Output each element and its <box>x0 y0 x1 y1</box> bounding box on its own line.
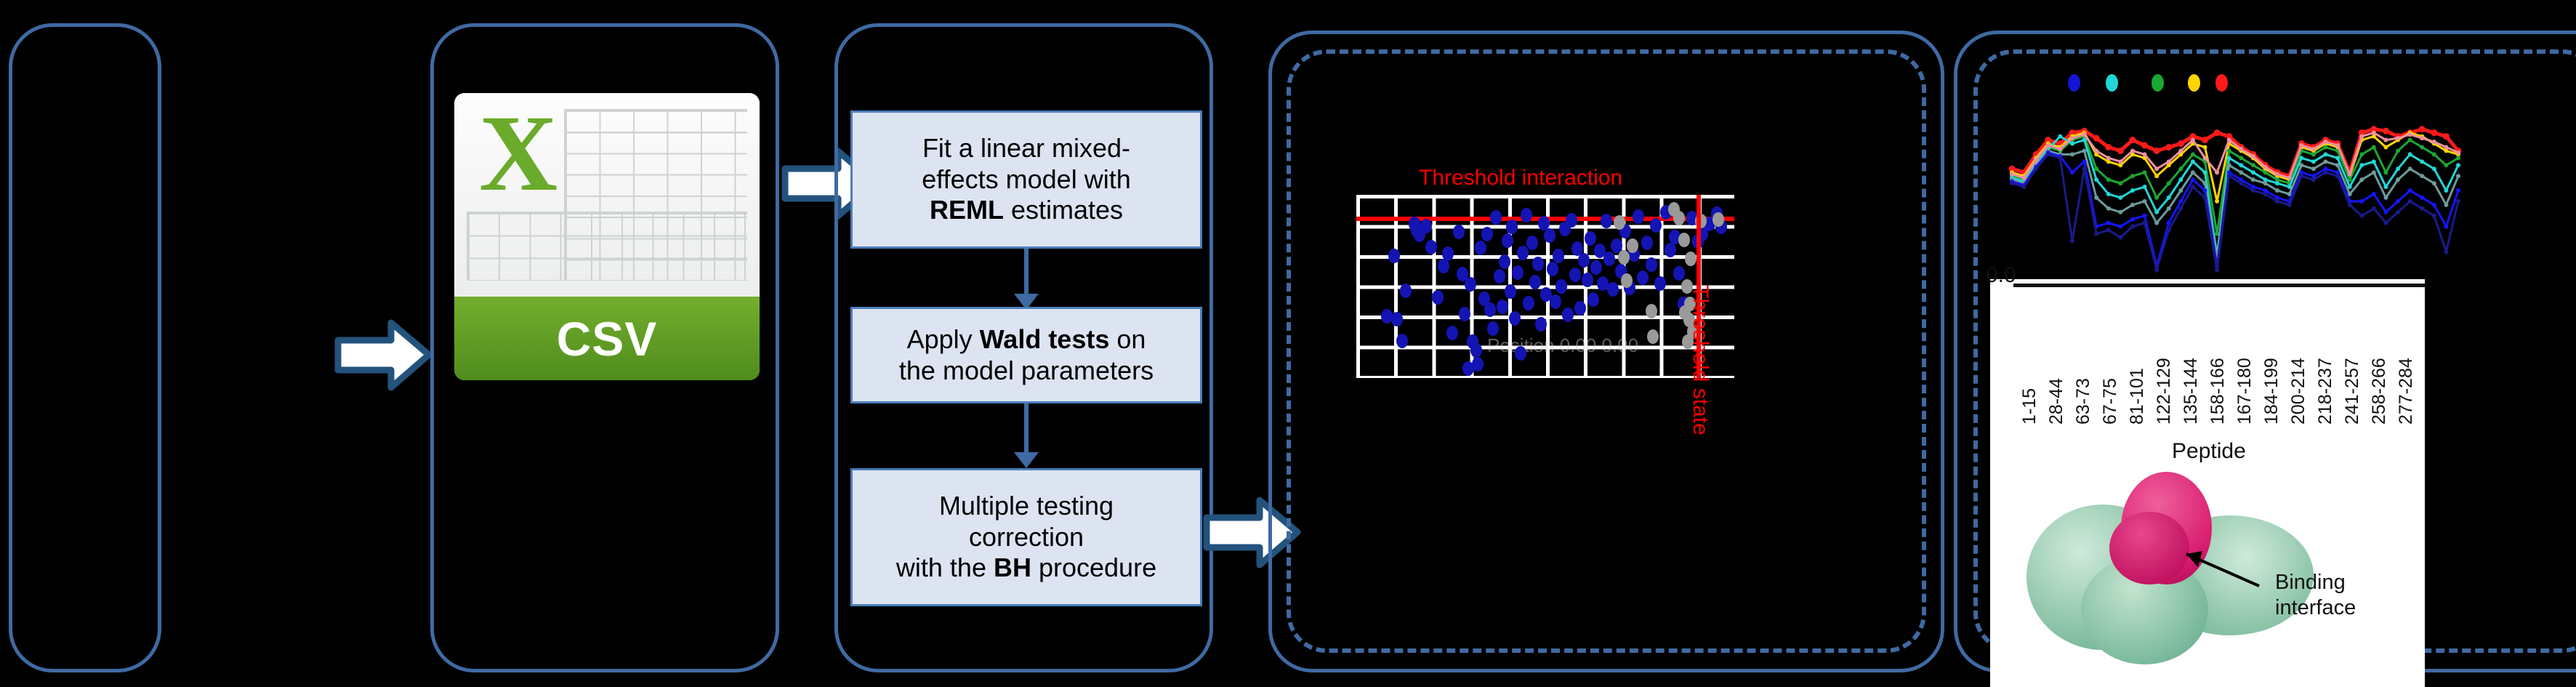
line-series-point <box>2034 158 2038 162</box>
scatter-point <box>1420 219 1432 233</box>
scatter-point <box>1502 233 1513 248</box>
line-series-point <box>2335 174 2340 178</box>
x-tick-label: 200-214 <box>2288 358 2309 425</box>
scatter-point-grey <box>1627 238 1638 253</box>
bh-line-1: Multiple testing <box>896 491 1156 521</box>
scatter-point <box>1515 346 1526 361</box>
scatter-point <box>1529 275 1541 289</box>
line-series-point <box>2239 163 2243 167</box>
line-series-point <box>2106 177 2111 182</box>
line-series-point <box>2372 192 2376 196</box>
process-step-reml[interactable]: Fit a linear mixed- effects model with R… <box>850 111 1202 249</box>
line-series-point <box>2191 177 2195 182</box>
line-series-point <box>2191 138 2195 142</box>
line-series-point <box>2456 188 2460 193</box>
line-series-point <box>2141 142 2148 149</box>
line-series-point <box>2443 133 2450 140</box>
line-series-point <box>2444 225 2448 229</box>
scatter-point-grey <box>1673 211 1685 225</box>
scatter-point <box>1526 236 1538 250</box>
x-tick-label: 167-180 <box>2234 358 2255 425</box>
line-series-point <box>2070 136 2074 140</box>
line-series-point <box>2167 206 2171 211</box>
line-series-point <box>2383 196 2388 200</box>
line-series-point <box>2178 148 2183 153</box>
line-series-point <box>2129 137 2136 143</box>
line-series-point <box>2143 199 2147 204</box>
line-series-point <box>2263 181 2267 185</box>
line-series-point <box>2251 170 2255 174</box>
x-tick-label: 28-44 <box>2046 378 2067 425</box>
scatter-point <box>1453 225 1465 239</box>
scatter-point-grey <box>1647 329 1659 344</box>
line-series-point <box>2130 188 2135 193</box>
scatter-point <box>1555 279 1567 294</box>
scatter-point <box>1425 240 1437 254</box>
line-series-point <box>2408 199 2412 204</box>
line-series-point <box>2167 228 2171 233</box>
line-series-point <box>2275 172 2279 177</box>
line-series-point <box>2419 126 2426 132</box>
line-series-point <box>2432 203 2436 207</box>
line-series-point <box>2311 166 2316 171</box>
scatter-point <box>1566 213 1577 228</box>
scatter-point <box>1517 246 1529 260</box>
scatter-point-grey <box>1678 233 1690 247</box>
line-series-point <box>2396 148 2400 153</box>
line-series-point <box>2046 152 2050 156</box>
line-series-point <box>2094 148 2098 153</box>
line-series-point <box>2239 170 2243 174</box>
scatter-point <box>1673 266 1685 281</box>
line-series-point <box>2202 137 2208 143</box>
reml-line-3-rest: estimates <box>1004 195 1123 225</box>
scatter-plot: Position 0.00 0.00 <box>1356 195 1734 378</box>
line-series-point <box>2432 152 2436 156</box>
line-series-point <box>2348 172 2352 177</box>
line-series-point <box>2431 129 2437 136</box>
line-series-point <box>2130 217 2135 222</box>
scatter-point <box>1487 321 1499 336</box>
line-series-point <box>2058 147 2062 151</box>
scatter-point <box>1637 270 1649 285</box>
line-series-point <box>2396 210 2400 214</box>
bh-line-3: with the BH procedure <box>896 553 1156 583</box>
wald-line-1: Apply Wald tests on <box>899 324 1154 355</box>
scatter-point <box>1578 253 1590 268</box>
line-series-point <box>2106 228 2111 233</box>
scatter-point <box>1470 343 1482 358</box>
scatter-point <box>1494 269 1505 284</box>
scatter-point <box>1499 254 1510 269</box>
scatter-point <box>1550 294 1561 309</box>
line-series-point <box>2191 159 2195 164</box>
line-series-point <box>2408 152 2412 156</box>
line-series-point <box>2106 192 2111 196</box>
line-series-point <box>2010 172 2014 177</box>
line-series-point <box>2227 138 2231 142</box>
scatter-point <box>1505 284 1516 299</box>
scatter-point <box>1532 257 1544 271</box>
x-tick-label: 158-166 <box>2207 358 2229 425</box>
scatter-point <box>1465 277 1476 292</box>
line-series-point <box>2105 144 2112 150</box>
line-series-point <box>2082 132 2087 137</box>
x-tick-label: 277-284 <box>2396 358 2417 425</box>
y-axis-label: 0.0 <box>1986 263 2016 288</box>
wald-line-1-a: Apply <box>907 324 980 354</box>
line-series-point <box>2094 177 2098 182</box>
line-series-point <box>2275 188 2279 193</box>
line-series-point <box>2191 152 2195 156</box>
line-series-point <box>2154 221 2159 225</box>
scatter-point <box>1512 265 1524 280</box>
line-series-point <box>2383 210 2388 214</box>
line-series-point <box>2456 163 2460 167</box>
line-series-point <box>2383 138 2388 142</box>
scatter-point-grey <box>1614 215 1625 230</box>
line-series-point <box>2203 181 2207 185</box>
scatter-point <box>1391 312 1403 326</box>
line-series-point <box>2118 159 2122 164</box>
scatter-point <box>1585 231 1596 246</box>
binding-interface-line-2: interface <box>2275 595 2356 621</box>
line-series-point <box>2118 235 2122 239</box>
x-tick-label: 67-75 <box>2100 378 2121 425</box>
line-series-point <box>2034 166 2038 171</box>
line-series-point <box>2359 134 2364 139</box>
line-series-point <box>2275 199 2279 204</box>
line-series-point <box>2359 152 2364 156</box>
line-series-point <box>2372 131 2376 135</box>
scatter-point <box>1603 252 1615 266</box>
scatter-point <box>1506 220 1518 234</box>
line-series-point <box>2227 148 2231 153</box>
line-series-point <box>2143 221 2147 225</box>
scatter-point <box>1569 268 1581 282</box>
scatter-point-grey <box>1712 212 1724 227</box>
connector-arrowhead-2 <box>1014 452 1039 468</box>
wald-keyword: Wald tests <box>980 324 1110 354</box>
line-series-point <box>2106 221 2111 225</box>
line-series-point <box>2275 181 2279 185</box>
scatter-point <box>1438 259 1449 273</box>
line-series-point <box>2070 142 2074 146</box>
line-series-point <box>2082 159 2087 164</box>
line-series-point <box>2143 152 2147 156</box>
binding-interface-annotation: Binding interface <box>2275 570 2356 621</box>
reml-line-1: Fit a linear mixed- <box>922 133 1130 164</box>
line-series <box>2012 154 2458 270</box>
scatter-point-grey <box>1685 252 1696 266</box>
line-series-point <box>2408 138 2412 142</box>
line-series-point <box>2444 203 2448 207</box>
x-tick-label: 135-144 <box>2181 358 2202 425</box>
line-series-point <box>2287 203 2292 207</box>
line-series-point <box>2178 206 2183 211</box>
line-series-point <box>2094 232 2098 236</box>
x-tick-label: 81-101 <box>2127 368 2148 425</box>
line-series-point <box>2118 196 2122 200</box>
line-series-point <box>2251 163 2255 167</box>
process-step-bh[interactable]: Multiple testing correction with the BH … <box>850 468 1202 606</box>
scatter-point-grey <box>1621 273 1633 288</box>
line-series-point <box>2178 188 2183 193</box>
line-series-point <box>2130 225 2135 229</box>
line-series-point <box>2263 165 2267 169</box>
scatter-point <box>1646 257 1657 272</box>
line-series-point <box>2311 147 2316 151</box>
scatter-point <box>1497 300 1508 314</box>
line-series-point <box>2118 210 2122 214</box>
scatter-point <box>1535 317 1547 332</box>
threshold-interaction-label: Threshold interaction <box>1419 166 1622 190</box>
x-tick-label: 1-15 <box>2019 388 2040 425</box>
line-series-point <box>2227 163 2231 167</box>
line-series-point <box>2165 144 2172 150</box>
line-series-point <box>2420 206 2424 211</box>
line-series-point <box>2372 159 2376 164</box>
line-series-point <box>2070 152 2074 156</box>
scatter-point-grey <box>1646 304 1657 318</box>
scatter-point <box>1432 290 1444 305</box>
scatter-point <box>1446 326 1458 340</box>
line-series-point <box>2167 181 2171 185</box>
input-panel <box>9 23 161 672</box>
wald-line-1-b: on <box>1109 324 1146 354</box>
line-series-point <box>2444 249 2448 254</box>
x-tick-label: 241-257 <box>2342 358 2363 425</box>
x-tick-label: 184-199 <box>2261 358 2282 425</box>
line-series-point <box>2215 199 2219 204</box>
scatter-point <box>1607 282 1619 297</box>
line-series-point <box>2154 210 2159 214</box>
line-series-point <box>2444 163 2448 167</box>
line-series-point <box>2372 145 2376 149</box>
line-series-point <box>2383 145 2388 149</box>
line-series-point <box>2420 159 2424 164</box>
line-series-point <box>2130 174 2135 178</box>
line-series-point <box>2167 196 2171 200</box>
arrow-input-to-data <box>334 317 432 393</box>
line-series-point <box>2154 148 2160 154</box>
connector-reml-to-wald <box>1024 249 1029 300</box>
protein-surface-render <box>2012 461 2332 672</box>
line-series-point <box>2348 203 2352 207</box>
line-series-point <box>2082 148 2087 153</box>
line-series-point <box>2456 199 2460 204</box>
line-series-point <box>2178 199 2183 204</box>
line-series-point <box>2130 203 2135 207</box>
scatter-point <box>1475 241 1486 255</box>
line-series-point <box>2203 188 2207 193</box>
line-series-point <box>2251 177 2255 182</box>
peptide-line-chart <box>2006 86 2464 284</box>
line-series-point <box>2154 174 2159 178</box>
binding-interface-line-1: Binding <box>2275 570 2356 595</box>
scatter-point <box>1562 308 1574 322</box>
bh-line-3-b: procedure <box>1031 553 1156 582</box>
line-series-point <box>2299 163 2303 167</box>
line-series-point <box>2335 143 2340 148</box>
line-series-point <box>2117 148 2124 154</box>
line-series-point <box>2311 159 2316 164</box>
scatter-point <box>1553 249 1564 263</box>
line-series-point <box>2239 156 2243 160</box>
line-series-point <box>2154 268 2159 272</box>
threshold-state-label: Threshold state <box>1688 285 1712 435</box>
line-series-point <box>2263 192 2267 196</box>
line-series-point <box>2396 199 2400 204</box>
line-series-point <box>2203 156 2207 160</box>
x-tick-label: 63-73 <box>2073 378 2094 425</box>
csv-format-band: CSV <box>454 297 760 380</box>
csv-format-label: CSV <box>557 311 658 366</box>
line-series-point <box>2323 145 2327 149</box>
x-axis-title: Peptide <box>2172 439 2246 464</box>
line-series-point <box>2058 156 2062 160</box>
line-series-point <box>2323 159 2327 164</box>
scatter-point <box>1396 334 1408 348</box>
line-series-point <box>2022 185 2026 189</box>
line-series-point <box>2420 136 2424 140</box>
wald-line-2: the model parameters <box>899 355 1154 386</box>
process-step-wald[interactable]: Apply Wald tests on the model parameters <box>850 307 1202 403</box>
line-series-point <box>2093 135 2100 142</box>
line-series-point <box>2432 140 2436 144</box>
scatter-point <box>1484 302 1496 317</box>
line-series-point <box>2094 166 2098 171</box>
line-series-point <box>2420 174 2424 178</box>
line-series-point <box>2432 166 2436 171</box>
line-series-point <box>2383 221 2388 225</box>
line-series-point <box>2359 214 2364 218</box>
line-series-point <box>2251 154 2255 158</box>
line-series-point <box>2178 166 2183 171</box>
line-series-point <box>2203 145 2207 149</box>
line-series-point <box>2383 185 2388 189</box>
csv-file-icon[interactable]: X CSV <box>454 93 760 380</box>
bh-line-2: correction <box>896 522 1156 553</box>
line-series-point <box>2178 177 2183 182</box>
line-series-point <box>2118 181 2122 185</box>
line-series-point <box>2239 181 2243 185</box>
line-series-point <box>2010 181 2014 185</box>
line-series-point <box>2372 206 2376 211</box>
line-series-point <box>2323 170 2327 174</box>
line-series-point <box>2167 221 2171 225</box>
x-tick-label: 218-237 <box>2315 358 2336 425</box>
line-series-point <box>2408 188 2412 193</box>
scatter-point <box>1521 208 1532 222</box>
line-series-point <box>2383 128 2389 134</box>
line-series-point <box>2396 136 2400 140</box>
line-series-point <box>2203 196 2207 200</box>
line-series-point <box>2215 268 2219 272</box>
scatter-point <box>1481 227 1493 241</box>
connector-wald-to-bh <box>1024 403 1029 458</box>
line-series-point <box>2335 156 2340 160</box>
line-series-point <box>2058 134 2062 139</box>
line-series-point <box>2299 143 2303 148</box>
line-series-point <box>2359 177 2364 182</box>
line-series-point <box>2311 152 2316 156</box>
line-series-point <box>2408 166 2412 171</box>
x-tick-label: 258-266 <box>2369 358 2390 425</box>
scatter-point <box>1590 260 1602 275</box>
line-series-point <box>2299 156 2303 160</box>
line-series-point <box>2214 129 2221 136</box>
line-series-point <box>2203 170 2207 174</box>
line-series-point <box>2372 170 2376 174</box>
line-series-point <box>2118 225 2122 229</box>
line-series-point <box>2130 148 2135 153</box>
line-series-point <box>2420 145 2424 149</box>
scatter-point <box>1641 236 1653 250</box>
scatter-point <box>1544 228 1555 243</box>
bh-line-3-a: with the <box>896 553 994 582</box>
line-series-point <box>2299 174 2303 178</box>
scatter-point <box>1650 218 1662 233</box>
line-series-point <box>2154 166 2159 171</box>
scatter-point <box>1547 262 1558 276</box>
scatter-point <box>1633 209 1644 224</box>
line-series-point <box>2082 138 2087 142</box>
line-series-point <box>2191 185 2195 189</box>
line-series-point <box>2323 140 2327 144</box>
line-series-point <box>2396 166 2400 171</box>
line-series-point <box>2239 147 2243 151</box>
line-series-point <box>2263 170 2267 174</box>
line-series-point <box>2456 150 2460 155</box>
line-series-point <box>2383 170 2388 174</box>
scatter-point <box>1490 210 1502 225</box>
line-series-point <box>2046 143 2050 148</box>
line-series-point <box>2227 156 2231 160</box>
excel-x-letter: X <box>467 102 571 251</box>
line-series-point <box>2106 206 2111 211</box>
line-series-point <box>2359 199 2364 204</box>
scatter-point <box>1388 249 1400 263</box>
line-series-point <box>2287 176 2292 180</box>
line-series-point <box>2191 170 2195 174</box>
line-series-point <box>2456 156 2460 160</box>
reml-keyword: REML <box>930 195 1004 225</box>
line-series-point <box>2432 181 2436 185</box>
line-series-point <box>2154 196 2159 200</box>
scatter-point <box>1587 292 1599 307</box>
line-series-point <box>2251 188 2255 193</box>
reml-line-2: effects model with <box>922 164 1130 195</box>
line-series-point <box>2396 177 2400 182</box>
line-series-point <box>2070 170 2074 174</box>
line-series-point <box>2178 140 2184 147</box>
line-series-point <box>2106 156 2111 160</box>
line-series-point <box>2215 170 2219 174</box>
scatter-ghost-axis-text: Position 0.00 0.00 <box>1487 334 1638 357</box>
scatter-point <box>1523 296 1534 310</box>
scatter-point <box>1400 284 1412 298</box>
line-series-point <box>2143 214 2147 218</box>
scatter-point-grey <box>1618 250 1630 265</box>
scatter-point <box>1459 307 1470 321</box>
line-series-point <box>2420 196 2424 200</box>
line-series-point <box>2432 214 2436 218</box>
scatter-point <box>1509 311 1521 326</box>
line-series-point <box>2143 170 2147 174</box>
line-series-point <box>2408 132 2412 137</box>
line-series-point <box>2070 238 2074 243</box>
